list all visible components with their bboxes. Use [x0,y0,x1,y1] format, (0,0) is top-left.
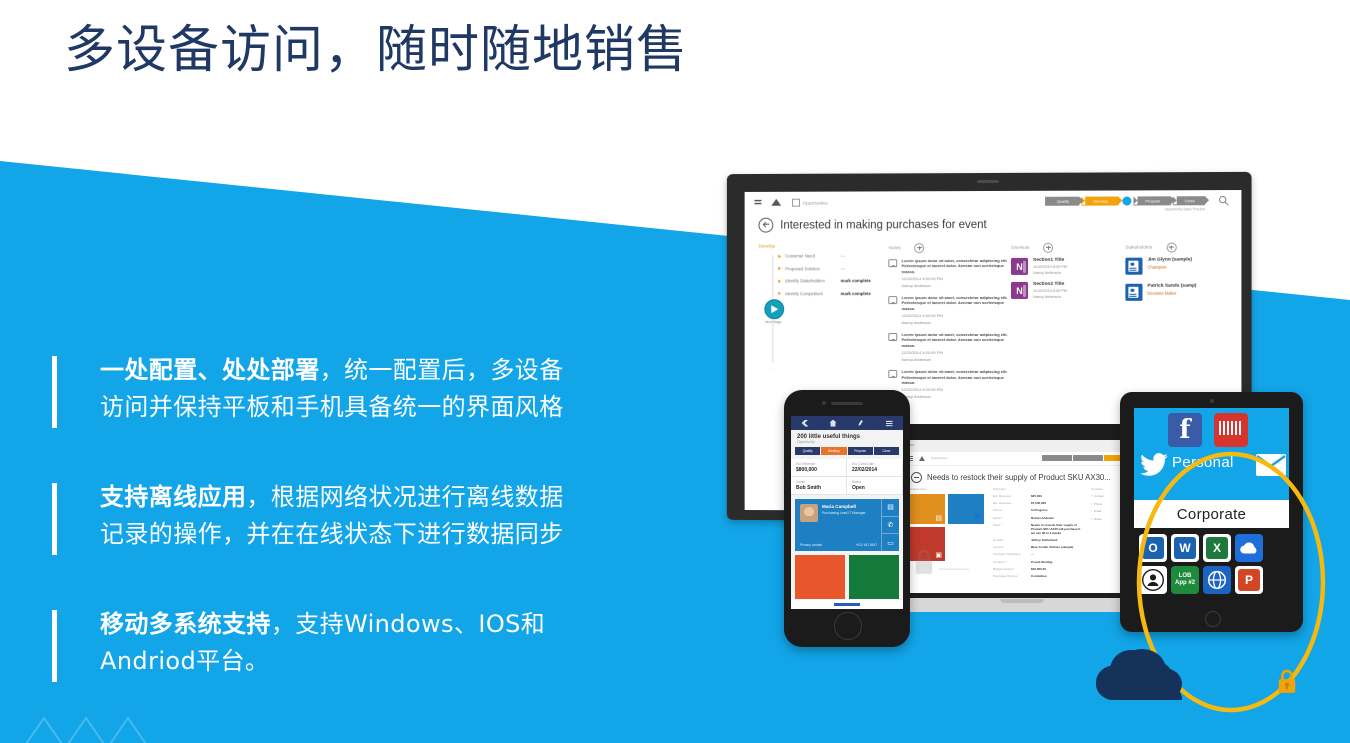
process-stage-bar: Qualify Develop Propose Close [1045,196,1207,206]
stage-badge-icon [1122,196,1131,205]
phone-field-label: Est. Close Date [852,462,897,466]
chevron-right-icon: › [1091,494,1092,498]
add-onenote-icon[interactable] [1043,243,1053,253]
contact-name: Maria Campbell [822,504,856,509]
phone-call-icon[interactable]: ✆ [881,516,899,534]
laptop-record-title: Needs to restock their supply of Product… [927,473,1111,482]
onenote-author: Nancy Anderson [1033,271,1067,276]
note-author: Nancy Anderson [902,320,1011,325]
field-value[interactable]: $32,000.00 [1031,567,1085,571]
crm-top-bar: Opportunities Qualify Develop Propose Cl… [745,190,1242,214]
stakeholder-item[interactable]: Patrick Sands (samp|Decision Maker [1125,284,1231,301]
lob-app-icon[interactable]: LOBApp #2 [1171,566,1199,594]
notes-column: Notes Lorem ipsum dolor sit amet, consec… [889,243,1011,406]
smartphone-device: 200 little useful things Opportunity Qua… [784,390,910,647]
contact-card-icon [1125,258,1142,275]
personal-label: Personal [1172,454,1234,471]
note-icon [889,370,898,378]
develop-step-1[interactable]: Customer Need--- [778,253,888,258]
breadcrumb-square-icon [792,199,800,207]
note-item[interactable]: Lorem ipsum dolor sit amet, consectetur … [889,332,1011,362]
bullet-bold-1: 一处配置、处处部署 [100,356,320,384]
laptop-title-row: Needs to restock their supply of Product… [903,466,1142,487]
onenote-header-label: OneNote [1011,245,1029,250]
field-label: Phone [993,508,1031,512]
chevron-right-icon [778,266,781,270]
bullet-accent-bar [52,356,57,428]
stakeholder-item[interactable]: Jim Glynn (sample)Champion [1125,257,1231,274]
contact-footer-left: Primary contact [800,543,822,547]
note-text: Lorem ipsum dolor sit amet, consectetur … [902,258,1011,274]
laptop-notch [1000,599,1044,603]
note-time: 11/20/2014 4:00:00 PM [902,276,1011,282]
bullet-text-1: 一处配置、处处部署，统一配置后，多设备访问并保持平板和手机具备统一的界面风格 [100,352,652,426]
field-label: Est. Revenue [993,501,1031,505]
contact-meta: Purchasing Lead IT Manager [822,511,866,516]
laptop-body: Related Apps ▤ 👤 ▣ Summary Est. Revenue$… [903,487,1142,581]
excel-icon[interactable]: X [1203,534,1231,562]
onenote-item[interactable]: NSection1 Title11/10/2014 8:00 PMNancy A… [1011,258,1125,276]
phone-tile-green[interactable] [849,555,899,599]
phone-field-label: Est. Revenue [796,462,841,466]
bullet-line2-2: 记录的操作，并在在线状态下进行数据同步 [100,520,564,548]
bullet-text-3: 移动多系统支持，支持Windows、IOS和Andriod平台。 [100,606,652,680]
home-icon[interactable] [771,199,781,206]
field-label: Currency * [993,560,1031,564]
related-apps-header: Related Apps [909,487,987,491]
bullet-item-1: 一处配置、处处部署，统一配置后，多设备访问并保持平板和手机具备统一的界面风格 [52,352,652,426]
outlook-icon[interactable]: O [1139,534,1167,562]
stage-qualify[interactable] [1042,455,1072,461]
person-icon: 👤 [972,514,981,522]
add-note-icon[interactable] [915,243,925,253]
process-stage-bar[interactable] [1042,455,1120,461]
chevron-right-icon: › [1091,509,1092,513]
note-icon [889,296,898,304]
next-stage-button[interactable] [764,299,784,319]
breadcrumb[interactable]: Opportunities [931,456,948,460]
note-item[interactable]: Lorem ipsum dolor sit amet, consectetur … [889,369,1011,399]
develop-step-4[interactable]: Identify Competitorsmark complete [778,291,888,296]
stakeholders-header: Stakeholders [1125,242,1231,252]
bullet-rest-1: ，统一配置后，多设备 [320,356,564,384]
add-stakeholder-icon[interactable] [1166,243,1176,253]
field-label: Budget Amount [993,567,1031,571]
bullet-accent-bar [52,483,57,555]
phone-tile-row [795,555,899,599]
phone-stage-close[interactable]: Close [874,447,899,455]
tile-blue[interactable]: 👤 [948,494,984,524]
word-icon[interactable]: W [1171,534,1199,562]
summary-column: Summary Est. Revenue$25,000 Est. Revenue… [993,487,1085,581]
internet-explorer-icon[interactable] [1203,566,1231,594]
develop-step-4-value[interactable]: mark complete [841,291,871,296]
note-icon [889,259,898,267]
laptop-field-row: Purchase Timeframe--- [993,552,1085,556]
note-author: Nancy Anderson [902,357,1011,362]
phone-field[interactable]: OwnerBob Smith [791,477,847,495]
chevron-right-icon [778,279,781,283]
phone-field[interactable]: StatusOpen [847,477,903,495]
onenote-title: Section1 Title [1033,258,1067,263]
field-label: Purchase Timeframe [993,552,1031,556]
breadcrumb[interactable]: Opportunities [792,199,828,207]
bullet-list: 一处配置、处处部署，统一配置后，多设备访问并保持平板和手机具备统一的界面风格 支… [52,352,652,733]
edit-icon[interactable] [858,420,865,427]
personal-zone: f Personal [1134,408,1289,500]
device-cluster: Opportunities Qualify Develop Propose Cl… [700,160,1350,743]
note-author: Nancy Anderson [902,283,1011,289]
bullet-bold-3: 移动多系统支持 [100,610,271,638]
phone-tile-orange[interactable] [795,555,845,599]
dynamics-crm-icon[interactable] [1139,566,1167,594]
tablet-screen: f Personal Corporate [1134,408,1289,609]
menu-icon[interactable] [886,420,893,427]
onenote-time: 11/10/2014 8:00 PM [1033,264,1067,269]
tile-orange[interactable]: ▤ [909,494,945,524]
field-label: Name * [993,516,1031,520]
note-time: 11/20/2014 4:00:00 PM [902,313,1011,318]
phone-stage-develop[interactable]: Develop [821,447,846,455]
bullet-rest-2: ，根据网络状况进行离线数据 [246,483,563,511]
note-text: Lorem ipsum dolor sit amet, consectetur … [902,295,1011,311]
onenote-header: OneNote [1011,243,1125,253]
corporate-zone: Corporate O W X LOBApp #2 [1134,500,1289,609]
field-label: Topic * [993,523,1031,535]
note-time: 11/20/2014 4:00:00 PM [902,387,1011,393]
breadcrumb-label: Opportunities [803,200,828,205]
field-value[interactable]: Robert Andrews [1031,516,1085,520]
phone-stage-bar: Qualify Develop Propose Close [791,447,903,459]
chevron-right-icon: › [1091,502,1092,506]
padlock-icon [1276,668,1298,694]
note-icon [889,333,898,341]
phone-nav-bar [791,416,903,430]
onenote-icon: N [1011,258,1028,275]
field-value[interactable]: $25,000 [1031,494,1085,498]
watermark-decoration [24,712,164,743]
phone-stage-propose[interactable]: Propose [848,447,873,455]
stage-develop-label: Develop [1093,199,1108,204]
home-icon[interactable] [830,420,837,427]
note-time: 11/20/2014 4:00:00 PM [902,350,1011,355]
bullet-rest-3: ，支持Windows、IOS和 [271,610,545,638]
phone-field-value: Bob Smith [796,485,841,491]
bullet-bold-2: 支持离线应用 [100,483,246,511]
laptop-field-row: PhoneIn Progress [993,508,1085,512]
note-text: Lorem ipsum dolor sit amet, consectetur … [902,369,1011,385]
bullet-text-2: 支持离线应用，根据网络状况进行离线数据记录的操作，并在在线状态下进行数据同步 [100,479,652,553]
field-value[interactable]: Blue Yonder Airlines (sample) [1031,545,1085,549]
phone-progress-indicator [791,600,903,609]
hamburger-icon[interactable] [755,200,762,206]
contact-card-main: Maria Campbell Purchasing Lead IT Manage… [795,499,881,551]
crm-record-title: Interested in making purchases for event [780,219,987,232]
corporate-band: Corporate [1134,500,1289,528]
radio-icon[interactable] [1214,413,1248,447]
stage-propose-label: Propose [1145,198,1160,203]
develop-step-2-label: Proposed Solution [785,266,840,271]
develop-step-2-value: --- [841,266,845,271]
laptop-footer-note: All data secured by Intune [939,568,969,571]
phone-field-value: Open [852,485,897,491]
lock-icon [913,549,935,575]
stakeholder-name: Jim Glynn (sample) [1147,258,1192,263]
field-label: Contact [993,538,1031,542]
phone-field-label: Status [852,480,897,484]
laptop-field-row: Budget Amount$32,000.00 [993,567,1085,571]
phone-screen: 200 little useful things Opportunity Qua… [791,416,903,609]
laptop-field-row: Currency *Pound Sterling [993,560,1085,564]
stage-qualify[interactable]: Qualify [1045,197,1080,206]
bullet-line2-3: Andriod平台。 [100,647,269,675]
develop-step-2[interactable]: Proposed Solution--- [778,266,888,271]
note-item[interactable]: Lorem ipsum dolor sit amet, consectetur … [889,258,1011,288]
note-author: Nancy Anderson [902,394,1011,400]
powerpoint-icon[interactable]: P [1235,566,1263,594]
develop-header: Develop [758,243,888,248]
onedrive-icon[interactable] [1235,534,1263,562]
laptop-device: CRM Opportunities [895,424,1148,620]
phone-camera-icon [822,401,826,405]
facebook-icon[interactable]: f [1168,413,1202,447]
note-text: Lorem ipsum dolor sit amet, consectetur … [902,332,1011,348]
stage-close[interactable]: Close [1173,196,1206,205]
field-label: Account [993,545,1031,549]
field-value[interactable]: Committee [1031,574,1085,578]
tablet-camera-icon [1210,399,1214,403]
next-stage-label: Next Stage [761,320,785,325]
phone-stage-qualify[interactable]: Qualify [795,447,820,455]
stakeholder-role[interactable]: Champion [1147,265,1192,270]
note-item[interactable]: Lorem ipsum dolor sit amet, consectetur … [889,295,1011,325]
stakeholder-role[interactable]: Decision Maker [1147,291,1196,296]
laptop-field-row: Purchase ProcessCommittee [993,574,1085,578]
laptop-screen: CRM Opportunities [903,440,1142,593]
message-icon[interactable]: ▭ [881,533,899,551]
laptop-field-row: Est. Revenue$7,500,000 [993,501,1085,505]
bullet-line2-1: 访问并保持平板和手机具备统一的界面风格 [100,393,564,421]
tablet-device: f Personal Corporate [1120,392,1303,632]
laptop-lid: CRM Opportunities [895,424,1148,598]
onenote-column: OneNote NSection1 Title11/10/2014 8:00 P… [1011,243,1125,407]
stage-qualify-label: Qualify [1057,199,1069,204]
crm-nav-bar: Opportunities [903,452,1142,466]
back-arrow-icon[interactable] [758,218,773,233]
laptop-field-row: Topic *Needs to restock their supply of … [993,523,1085,535]
phone-field-label: Owner [796,480,841,484]
develop-step-1-value: --- [841,253,845,258]
develop-step-3-label: Identify Stakeholders [785,278,840,283]
crm-columns: Develop Customer Need--- Proposed Soluti… [758,242,1231,406]
notes-header: Notes [889,243,1011,253]
develop-column: Develop Customer Need--- Proposed Soluti… [758,243,888,406]
onenote-item[interactable]: NSection2 Title11/10/2014 8:00 PMNancy A… [1011,282,1125,300]
back-icon[interactable] [802,420,809,427]
pdf-icon: ▣ [935,551,942,559]
page-title: 多设备访问，随时随地销售 [64,20,688,82]
stakeholders-column: Stakeholders Jim Glynn (sample)Champion … [1125,242,1231,406]
timeline-dots: ... [769,365,772,370]
develop-step-1-label: Customer Need [785,253,840,258]
phone-home-button[interactable] [834,612,862,640]
phone-field[interactable]: Est. Close Date22/02/2014 [847,459,903,477]
field-value[interactable]: Needs to restock their supply of Product… [1031,523,1085,535]
monitor-camera-icon [977,180,999,183]
phone-field[interactable]: Est. Revenue$800,000 [791,459,847,477]
onenote-time: 11/10/2014 8:00 PM [1033,288,1067,293]
field-value[interactable]: Jeffrey Sutherland [1031,538,1085,542]
laptop-field-row: ContactJeffrey Sutherland [993,538,1085,542]
chevron-right-icon [778,254,781,258]
phone-speaker-icon [831,402,863,405]
document-icon: ▤ [935,514,942,522]
develop-step-3[interactable]: Identify Stakeholdersmark complete [778,278,888,283]
twitter-icon[interactable] [1139,452,1169,478]
stage-propose[interactable]: Propose [1133,196,1170,205]
onenote-title: Section2 Title [1033,282,1067,287]
bullet-accent-bar [52,610,57,682]
onenote-icon: N [1011,282,1028,299]
summary-header: Summary [993,487,1085,491]
develop-step-4-label: Identify Competitors [785,291,840,296]
phone-field-value: $800,000 [796,467,841,473]
browser-tab-bar: CRM [903,440,1142,452]
intune-cloud-shape [1092,642,1184,708]
contact-footer-right: +612 451 8847 [856,543,877,547]
stakeholder-name: Patrick Sands (samp| [1147,284,1196,289]
field-label: Est. Revenue [993,494,1031,498]
slide-root: 多设备访问，随时随地销售 一处配置、处处部署，统一配置后，多设备访问并保持平板和… [0,0,1350,743]
avatar [800,504,818,522]
laptop-field-row: Name *Robert Andrews [993,516,1085,520]
stage-develop[interactable]: Develop [1081,197,1118,206]
contact-card-icon [1125,284,1142,301]
search-icon[interactable] [1218,195,1229,206]
lob-app-label: LOBApp #2 [1175,573,1195,587]
field-label: Purchase Process [993,574,1031,578]
phone-record-title: 200 little useful things [791,430,903,440]
phone-contact-card[interactable]: Maria Campbell Purchasing Lead IT Manage… [795,499,899,551]
field-value[interactable]: $7,500,000 [1031,501,1085,505]
stage-develop[interactable] [1073,455,1103,461]
phone-field-grid: Est. Revenue$800,000 Est. Close Date22/0… [791,459,903,495]
stakeholders-header-label: Stakeholders [1125,245,1152,250]
onenote-author: Nancy Anderson [1033,295,1067,300]
phone-field-value: 22/02/2014 [852,467,897,473]
phone-record-subtitle: Opportunity [791,440,903,447]
notes-header-label: Notes [889,245,901,250]
field-value[interactable]: Pound Sterling [1031,560,1085,564]
corporate-app-grid: O W X LOBApp #2 P [1134,530,1289,598]
back-arrow-icon[interactable] [911,472,922,483]
stage-close-label: Close [1185,198,1195,203]
tablet-home-button[interactable] [1205,611,1221,627]
process-caption: Opportunity Sales Process [1165,207,1206,211]
field-value[interactable]: --- [1031,552,1085,556]
develop-step-3-value[interactable]: mark complete [841,278,871,283]
chevron-right-icon [778,291,781,295]
field-value[interactable]: In Progress [1031,508,1085,512]
home-icon[interactable] [919,456,925,461]
stage-flag-icon [1133,196,1137,204]
personal-app-grid: f Personal [1134,408,1289,500]
card-icon[interactable]: ▤ [881,499,899,516]
bullet-item-2: 支持离线应用，根据网络状况进行离线数据记录的操作，并在在线状态下进行数据同步 [52,479,652,553]
contact-actions: ▤ ✆ ▭ [881,499,899,551]
corporate-label: Corporate [1177,506,1246,523]
stage-propose[interactable] [1104,455,1120,461]
crm-title-row: Interested in making purchases for event [758,217,986,233]
chevron-right-icon: › [1091,517,1092,521]
mail-icon[interactable] [1256,454,1286,476]
laptop-field-row: Est. Revenue$25,000 [993,494,1085,498]
laptop-field-row: AccountBlue Yonder Airlines (sample) [993,545,1085,549]
bullet-item-3: 移动多系统支持，支持Windows、IOS和Andriod平台。 [52,606,652,680]
